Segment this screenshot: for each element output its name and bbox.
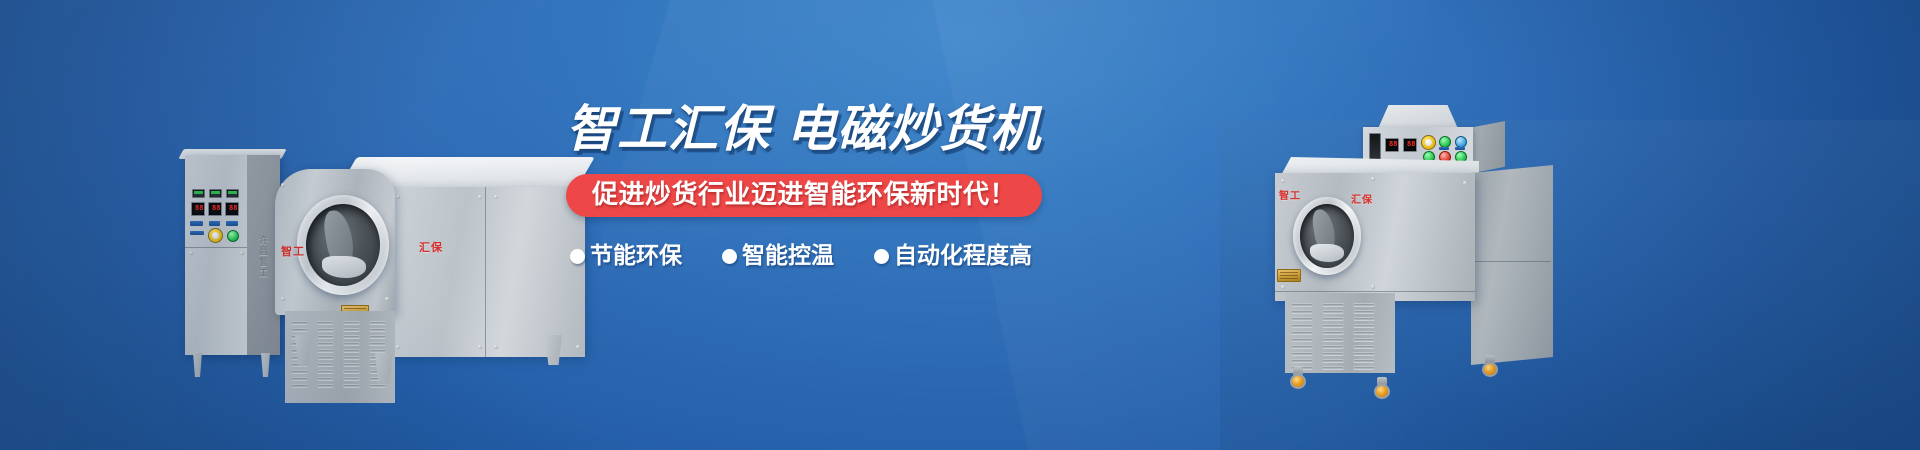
ventilation-grille <box>1291 303 1375 370</box>
panel-label-1 <box>190 221 203 226</box>
rivet <box>1371 177 1375 181</box>
roaster-body-left: 智工 汇保 <box>275 161 575 377</box>
rivet <box>281 297 285 301</box>
cabinet-leg <box>193 353 202 377</box>
caster-wheel <box>1373 377 1391 399</box>
bullet-dot-icon <box>722 249 737 264</box>
banner-copy: 智工汇保电磁炒货机 促进炒货行业迈进智能环保新时代！ 节能环保 智能控温 自动化… <box>566 103 1036 268</box>
emergency-stop-button[interactable] <box>1421 135 1436 150</box>
rivet <box>396 195 400 199</box>
panel-seam <box>1473 261 1551 262</box>
rivet <box>576 345 580 349</box>
caster-wheel <box>1481 355 1499 377</box>
rocker-switch-1[interactable] <box>192 189 205 198</box>
tagline-badge: 促进炒货行业迈进智能环保新时代！ <box>566 174 1042 217</box>
digital-display-2: 88 <box>1403 138 1417 152</box>
drum-opening <box>306 204 380 286</box>
panel-label-4 <box>190 231 204 235</box>
rivet <box>1371 285 1375 289</box>
product-image-machine-right: 88 88 智工 汇保 <box>1275 105 1575 405</box>
page-title: 智工汇保电磁炒货机 <box>566 103 1036 156</box>
rivet <box>1281 285 1285 289</box>
meter-display <box>1369 133 1381 161</box>
drum-opening-ring <box>1293 197 1361 275</box>
brand-mark-right: 汇保 <box>1351 191 1373 206</box>
feature-list: 节能环保 智能控温 自动化程度高 <box>566 245 1036 268</box>
cabinet-vertical-brand-text: 许昌智工 <box>256 235 267 279</box>
product-image-machine-left: 88 88 88 许昌智工 <box>175 95 595 405</box>
start-button[interactable] <box>227 230 239 242</box>
digital-display-2: 88 <box>208 202 222 216</box>
panel-seam <box>1275 291 1475 292</box>
control-cabinet-left: 88 88 88 许昌智工 <box>185 155 280 355</box>
feature-label: 智能控温 <box>742 245 834 268</box>
rivet <box>281 183 285 187</box>
drum-opening <box>1300 204 1354 268</box>
rivet <box>240 251 244 255</box>
rivet <box>396 345 400 349</box>
roaster-lower-panel-right <box>1285 293 1395 373</box>
feature-item: 节能环保 <box>570 245 682 268</box>
drum-opening-ring <box>297 195 389 295</box>
bullet-dot-icon <box>570 249 585 264</box>
brand-mark-left: 智工 <box>281 243 305 259</box>
rivet <box>385 297 389 301</box>
digital-display-3: 88 <box>225 202 239 216</box>
rocker-switch-2[interactable] <box>209 189 222 198</box>
brand-mark-right: 汇保 <box>419 239 443 255</box>
rivet <box>494 345 498 349</box>
headline-part-2: 电磁炒货机 <box>786 100 1041 158</box>
roaster-side-panel-right <box>1471 165 1553 365</box>
panel-label-2 <box>209 221 220 226</box>
button-label <box>1455 147 1465 150</box>
bullet-dot-icon <box>874 249 889 264</box>
roaster-front-right: 智工 汇保 <box>1275 173 1475 301</box>
promo-banner: 88 88 88 许昌智工 <box>0 0 1920 450</box>
emergency-stop-button[interactable] <box>208 228 223 243</box>
feature-item: 自动化程度高 <box>874 245 1032 268</box>
panel-seam <box>485 187 486 357</box>
spec-nameplate <box>1277 269 1301 282</box>
feature-item: 智能控温 <box>722 245 834 268</box>
feature-label: 自动化程度高 <box>894 245 1032 268</box>
feature-label: 节能环保 <box>590 245 682 268</box>
rivet <box>1463 181 1467 185</box>
brand-mark-left: 智工 <box>1279 187 1301 202</box>
panel-label-3 <box>226 221 238 226</box>
cabinet-face: 88 88 88 <box>185 155 247 355</box>
tagline-text: 促进炒货行业迈进智能环保新时代！ <box>592 180 1016 210</box>
rivet <box>1281 179 1285 183</box>
headline-part-1: 智工汇保 <box>566 100 770 158</box>
roaster-hood: 智工 <box>275 169 395 315</box>
digital-display-1: 88 <box>1385 138 1399 152</box>
rivet <box>189 251 193 255</box>
rivet <box>478 195 482 199</box>
rivet <box>494 195 498 199</box>
button-label <box>1439 147 1449 150</box>
cabinet-leg <box>261 353 270 377</box>
roaster-front-panel <box>390 187 585 357</box>
rocker-switch-3[interactable] <box>226 189 239 198</box>
rivet <box>478 345 482 349</box>
digital-display-1: 88 <box>191 202 205 216</box>
cabinet-seam <box>185 247 247 248</box>
drum-paddle <box>322 256 366 278</box>
drum-paddle <box>1310 244 1344 262</box>
caster-wheel <box>1289 367 1307 389</box>
